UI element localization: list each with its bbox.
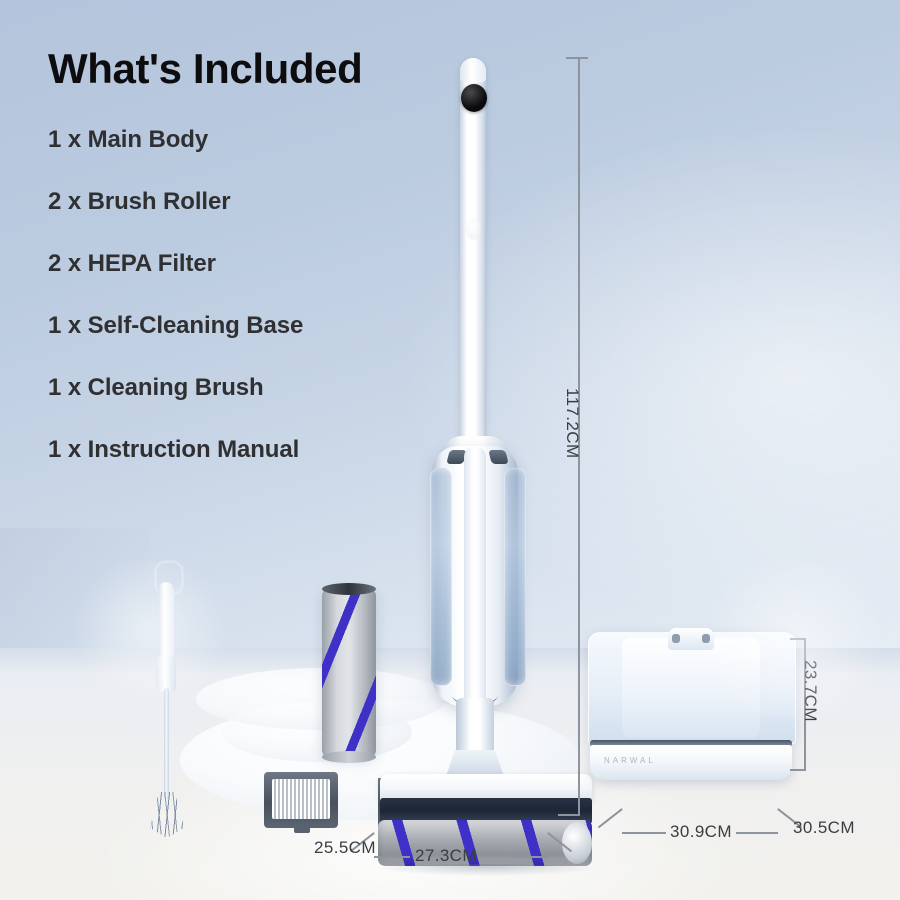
brush-roller-body: [322, 588, 376, 758]
base-tank-inner: [622, 638, 760, 738]
brush-handle: [158, 582, 174, 662]
water-tank-right: [504, 468, 526, 686]
brush-roller-end-bottom: [322, 751, 376, 763]
floor-head-roller-cap: [562, 822, 592, 864]
dim-height-cap-top: [566, 57, 588, 59]
brush-rod: [164, 688, 169, 800]
base-brand-logo: NARWAL: [604, 756, 656, 765]
hepa-filter-pleats: [272, 779, 330, 819]
product-infographic: What's Included 1 x Main Body 2 x Brush …: [0, 0, 900, 900]
handle-pole: [460, 58, 486, 458]
wall-panel-left: [0, 528, 150, 648]
body-center-spine: [464, 446, 486, 716]
dim-base-width-line-left: [622, 832, 666, 834]
dim-label-machine-height: 117.2CM: [562, 388, 582, 459]
dim-width-line-right: [512, 856, 548, 858]
dim-height-cap-bottom: [558, 814, 580, 816]
cleaning-brush: [132, 560, 202, 830]
display-dial-icon: [461, 84, 487, 112]
dim-label-head-depth: 25.5CM: [314, 838, 376, 858]
air-vent-right: [488, 450, 508, 464]
handle-top-cap: [460, 58, 486, 82]
dim-label-base-width: 30.9CM: [670, 822, 732, 842]
power-button: [466, 218, 481, 240]
dim-label-base-height: 23.7CM: [800, 660, 820, 722]
floor-head-shadow: [374, 864, 598, 876]
hepa-filter-tab: [294, 826, 310, 833]
dim-base-width-line-right: [736, 832, 778, 834]
water-tank-left: [430, 468, 452, 686]
spare-brush-roller: [322, 588, 376, 758]
page-title: What's Included: [48, 48, 362, 90]
floor-head-top: [380, 774, 592, 800]
hepa-filter: [264, 772, 338, 828]
base-dock-contact-right: [702, 634, 710, 643]
dim-label-base-depth: 30.5CM: [793, 818, 855, 838]
vacuum-main-body: [404, 58, 564, 848]
brush-roller-end-top: [322, 583, 376, 595]
brush-collar: [156, 656, 176, 692]
dim-label-head-width: 27.3CM: [415, 846, 477, 866]
dim-width-line-left: [374, 856, 410, 858]
self-cleaning-base-station: NARWAL: [588, 632, 794, 780]
base-dock-contact-left: [672, 634, 680, 643]
dim-base-height-cap-bottom: [790, 769, 806, 771]
